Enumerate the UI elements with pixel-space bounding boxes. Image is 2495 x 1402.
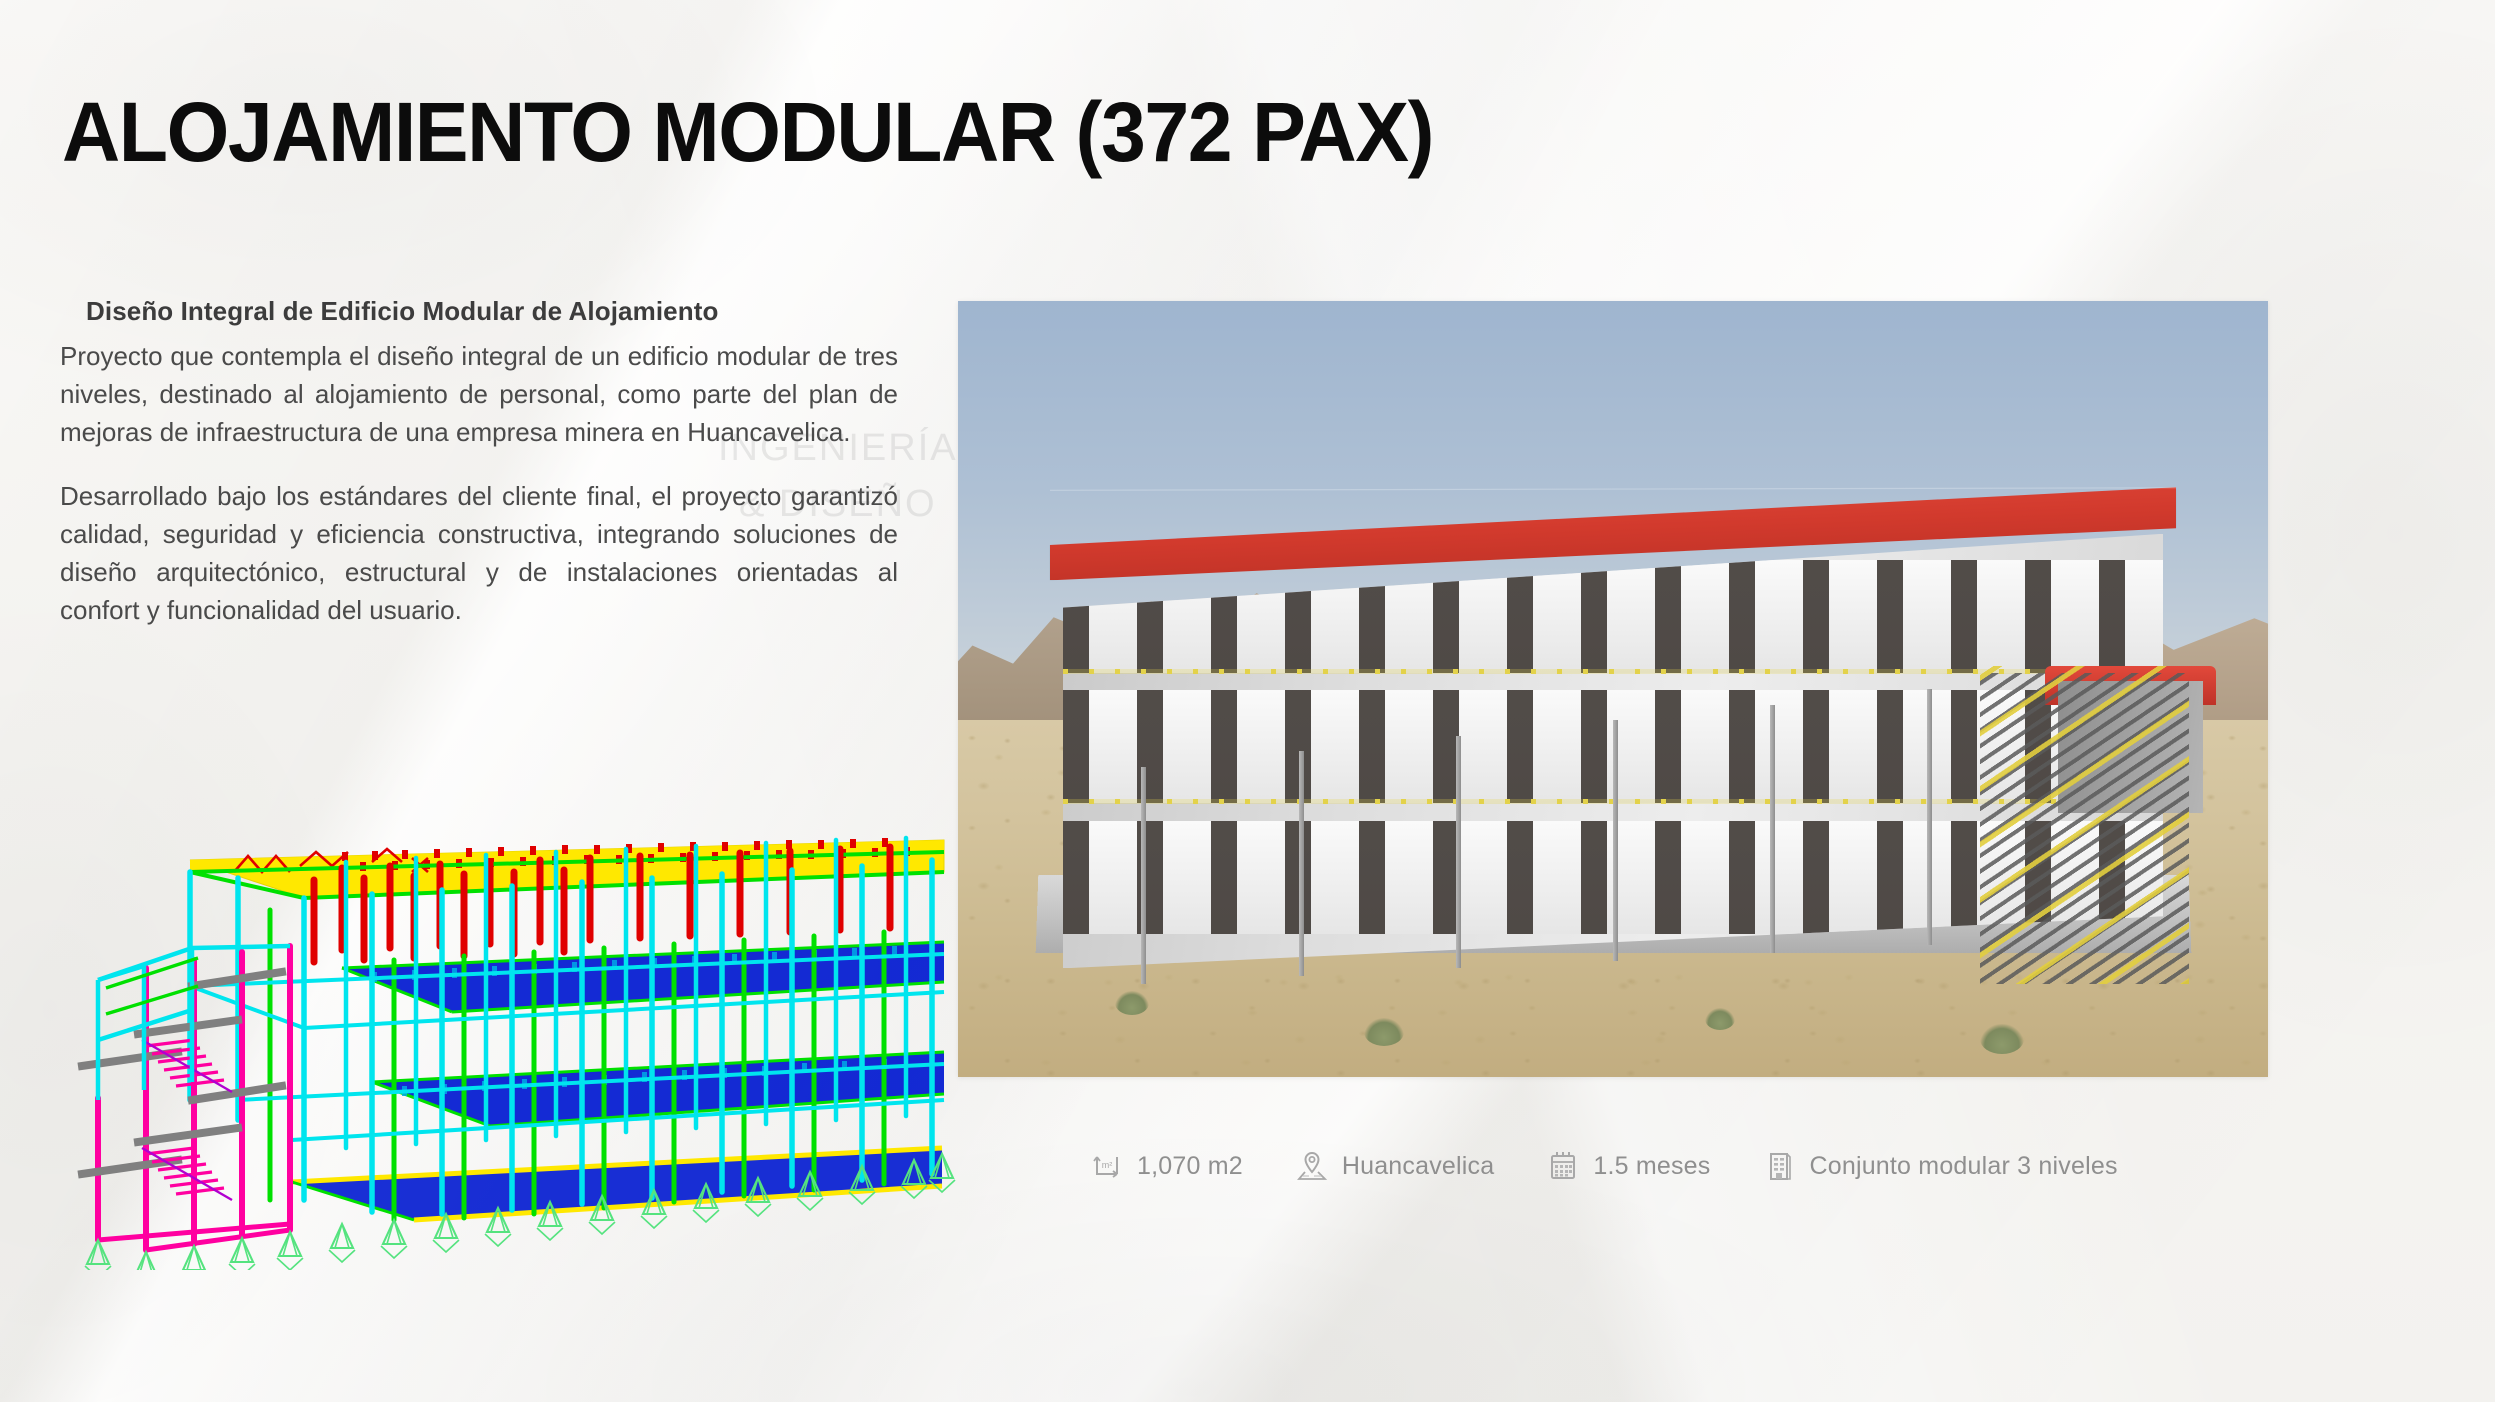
stair-enclosure-frame xyxy=(98,946,290,1100)
description-column: Diseño Integral de Edificio Modular de A… xyxy=(60,296,898,629)
stair-enclosure-green-beam xyxy=(106,958,198,1014)
meta-item-location: Huancavelica xyxy=(1295,1148,1495,1184)
meta-label-duration: 1.5 meses xyxy=(1593,1152,1710,1181)
support-post xyxy=(1456,736,1461,969)
structural-analysis-model xyxy=(42,800,982,1270)
shrub xyxy=(1364,1018,1404,1046)
structural-model-svg xyxy=(42,800,982,1270)
meta-label-location: Huancavelica xyxy=(1342,1152,1495,1181)
meta-item-typology: Conjunto modular 3 niveles xyxy=(1762,1148,2117,1184)
location-icon xyxy=(1295,1148,1329,1184)
ground-level-deck xyxy=(292,1148,942,1220)
stair-treads-upper xyxy=(146,1040,224,1086)
support-post xyxy=(1299,751,1304,976)
building-icon xyxy=(1762,1148,1796,1184)
area-icon: m² xyxy=(1090,1148,1124,1184)
architectural-render-photo xyxy=(958,301,2268,1077)
project-metadata-row: m² 1,070 m2 Huancavelica 1.5 mes xyxy=(1090,1148,2118,1184)
meta-item-area: m² 1,070 m2 xyxy=(1090,1148,1243,1184)
support-post xyxy=(1613,720,1618,961)
meta-label-typology: Conjunto modular 3 niveles xyxy=(1809,1152,2117,1181)
page-title: ALOJAMIENTO MODULAR (372 PAX) xyxy=(62,84,1433,181)
support-post xyxy=(1141,767,1146,984)
meta-item-duration: 1.5 meses xyxy=(1546,1148,1710,1184)
meta-label-area: 1,070 m2 xyxy=(1137,1152,1243,1181)
stair-treads-lower xyxy=(146,1148,224,1194)
paragraph-1: Proyecto que contempla el diseño integra… xyxy=(60,337,898,451)
staircase-yellow-handrail xyxy=(1980,666,2190,984)
support-post xyxy=(1927,689,1932,945)
support-post xyxy=(1770,705,1775,953)
shrub xyxy=(1980,1024,2024,1054)
stair-landings xyxy=(82,972,282,1174)
paragraph-2: Desarrollado bajo los estándares del cli… xyxy=(60,477,898,629)
subheading: Diseño Integral de Edificio Modular de A… xyxy=(60,296,898,327)
shrub xyxy=(1115,991,1149,1015)
svg-text:m²: m² xyxy=(1102,1160,1113,1170)
calendar-icon xyxy=(1546,1148,1580,1184)
